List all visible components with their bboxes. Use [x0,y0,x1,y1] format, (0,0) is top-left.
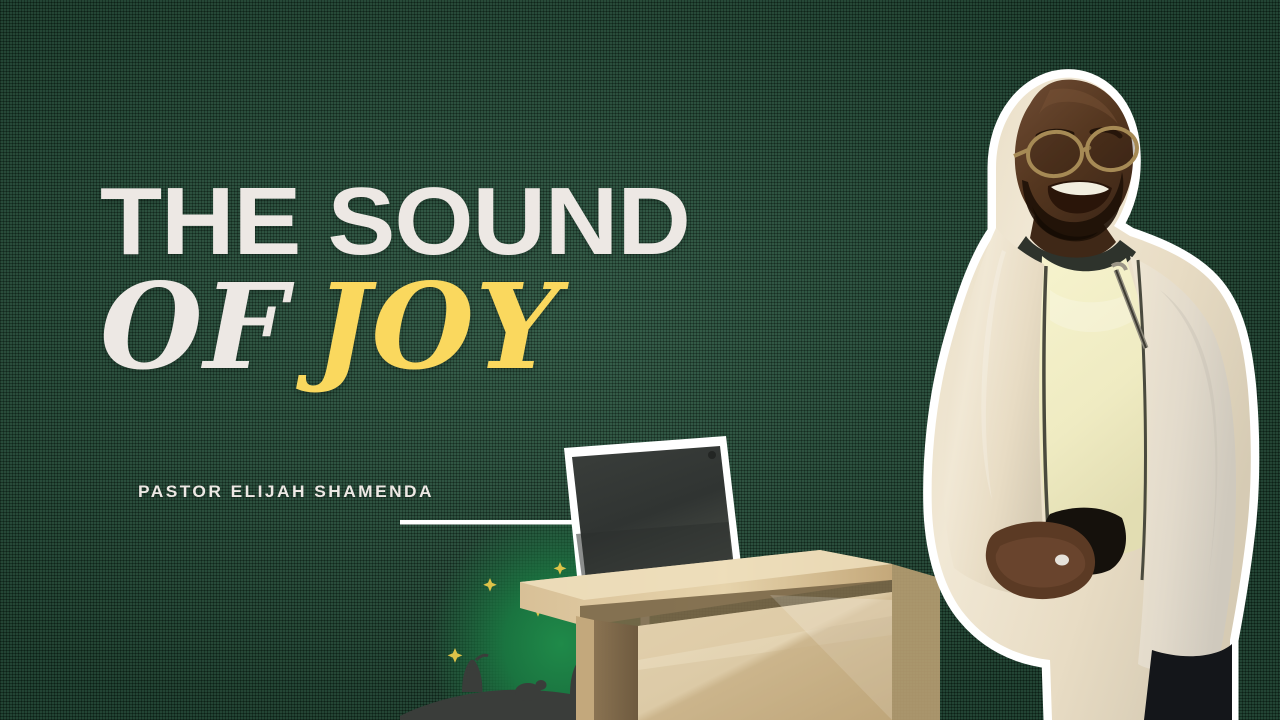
shepherd-with-staff [462,660,483,692]
ring [1055,555,1069,566]
slide-headline: THE SOUND OFJOY [100,178,656,386]
pastor-speaking-at-podium [800,60,1280,720]
title-line-two: OFJOY [100,268,656,386]
speaker-figure [932,78,1251,720]
lectern-left-column [594,620,638,720]
title-line-one: THE SOUND [100,178,690,266]
speaker-byline: PASTOR ELIJAH SHAMENDA [138,482,434,502]
title-word-of: OF [100,257,289,396]
title-word-joy: JOY [315,257,561,396]
sermon-title-slide: THE SOUND OFJOY PASTOR ELIJAH SHAMENDA [0,0,1280,720]
